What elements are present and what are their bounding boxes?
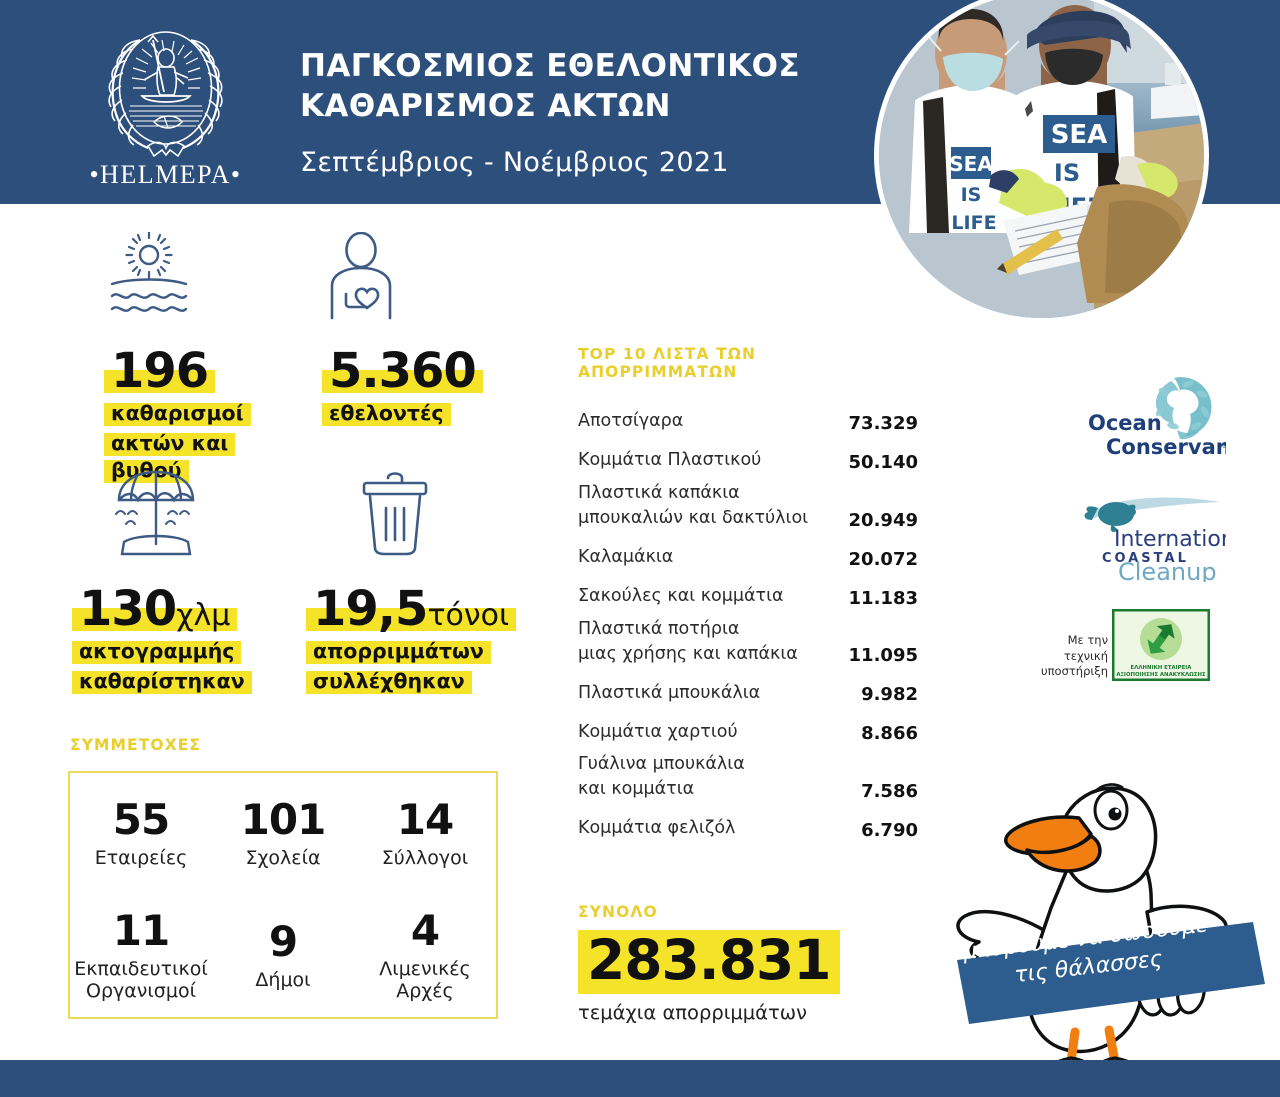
total-section: ΣΥΝΟΛΟ 283.831 τεμάχια απορριμμάτων — [578, 903, 918, 1024]
waste-item-name: Γυάλινα μπουκάλιακαι κομμάτια — [578, 752, 836, 802]
icc-line-1: International — [1114, 527, 1226, 552]
table-row: Κομμάτια χαρτιού 8.866 — [578, 713, 918, 744]
stat-unit: χλμ — [176, 598, 230, 633]
svg-text:LIFE: LIFE — [951, 212, 996, 234]
participation-item: 14 Σύλλογοι — [354, 773, 496, 895]
svg-text:SEA: SEA — [1051, 120, 1108, 150]
participation-item: 11 ΕκπαιδευτικοίΟργανισμοί — [70, 895, 212, 1017]
waste-item-value: 6.790 — [836, 820, 918, 841]
helmepa-logo: •HELMEPA• — [78, 22, 253, 197]
ocean-conservancy-line-2: Conservancy — [1106, 435, 1226, 459]
stat-card-volunteers: 5.360 εθελοντές — [322, 232, 522, 427]
table-row: Αποτσίγαρα 73.329 — [578, 403, 918, 434]
svg-text:IS: IS — [961, 184, 982, 206]
waste-item-value: 50.140 — [836, 452, 918, 473]
waste-item-name: Σακούλες και κομμάτια — [578, 584, 836, 609]
footer-bar — [0, 1060, 1280, 1097]
stat-card-cleanups: 196 καθαρισμοί ακτών και βυθού — [104, 232, 304, 485]
recycling-line-2: ΑΞΙΟΠΟΙΗΣΗΣ ΑΝΑΚΥΚΛΩΣΗΣ — [1116, 672, 1206, 678]
recycling-line-1: ΕΛΛΗΝΙΚΗ ΕΤΑΙΡΕΙΑ — [1131, 665, 1193, 671]
table-row: Κομμάτια Πλαστικού 50.140 — [578, 442, 918, 473]
participation-number: 55 — [113, 799, 169, 841]
top10-title: TOP 10 ΛΙΣΤΑ ΤΩΝ ΑΠΟΡΡΙΜΜΑΤΩΝ — [578, 345, 918, 381]
waste-item-name: Καλαμάκια — [578, 545, 836, 570]
volunteer-person-heart-icon — [322, 232, 522, 324]
table-row: Γυάλινα μπουκάλιακαι κομμάτια 7.586 — [578, 752, 918, 802]
ocean-conservancy-logo: Ocean Conservancy ® — [1078, 372, 1226, 460]
participation-item: 101 Σχολεία — [212, 773, 354, 895]
participation-label: Σχολεία — [245, 847, 320, 869]
waste-item-name: Πλαστικά ποτήριαμιας χρήσης και καπάκια — [578, 617, 836, 667]
waste-item-value: 11.095 — [836, 645, 918, 666]
participation-label: Εταιρείες — [95, 847, 188, 869]
waste-item-value: 20.949 — [836, 510, 918, 531]
stat-label-line-2: καθαρίστηκαν — [79, 669, 245, 693]
stat-number: 130 — [79, 581, 176, 637]
international-coastal-cleanup-logo: International COASTAL Cleanup — [1078, 490, 1226, 582]
stat-number: 196 — [111, 343, 208, 399]
stat-label-line-1: καθαρισμοί — [111, 401, 244, 425]
participation-item: 4 ΛιμενικέςΑρχές — [354, 895, 496, 1017]
technical-support-note: Με την τεχνική υποστήριξη — [1022, 633, 1108, 680]
infographic-page: •HELMEPA• ΠΑΓΚΟΣΜΙΟΣ ΕΘΕΛΟΝΤΙΚΟΣ ΚΑΘΑΡΙΣ… — [0, 0, 1280, 1097]
participation-box: 55 Εταιρείες 101 Σχολεία 14 Σύλλογοι 11 … — [68, 771, 498, 1019]
table-row: Πλαστικά μπουκάλια 9.982 — [578, 674, 918, 705]
page-title-line-1: ΠΑΓΚΟΣΜΙΟΣ ΕΘΕΛΟΝΤΙΚΟΣ — [300, 46, 840, 86]
waste-item-name: Αποτσίγαρα — [578, 409, 836, 434]
waste-item-name: Κομμάτια Πλαστικού — [578, 448, 836, 473]
waste-item-name: Πλαστικά μπουκάλια — [578, 681, 836, 706]
stat-label-line-1: απορριμμάτων — [313, 639, 484, 663]
participation-number: 101 — [241, 799, 326, 841]
stat-number: 5.360 — [329, 343, 476, 399]
table-row: Καλαμάκια 20.072 — [578, 539, 918, 570]
technical-support-line-2: υποστήριξη — [1041, 664, 1108, 678]
beach-umbrella-icon — [106, 466, 206, 562]
top10-list-section: TOP 10 ΛΙΣΤΑ ΤΩΝ ΑΠΟΡΡΙΜΜΑΤΩΝ Αποτσίγαρα… — [578, 345, 918, 849]
table-row: Πλαστικά ποτήριαμιας χρήσης και καπάκια … — [578, 617, 918, 667]
waste-item-name: Κομμάτια φελιζόλ — [578, 816, 836, 841]
stat-number: 19,5 — [313, 581, 427, 637]
svg-text:®: ® — [1221, 441, 1226, 450]
total-number: 283.831 — [578, 930, 840, 994]
stat-card-waste: 19,5τόνοι απορριμμάτων συλλέχθηκαν — [306, 466, 526, 695]
participation-number: 4 — [411, 910, 439, 952]
participation-label: Δήμοι — [255, 969, 310, 991]
participation-label: ΕκπαιδευτικοίΟργανισμοί — [74, 958, 208, 1003]
waste-item-value: 20.072 — [836, 549, 918, 570]
waste-item-name: Πλαστικά καπάκιαμπουκαλιών και δακτύλιοι — [578, 481, 836, 531]
icc-line-3: Cleanup — [1118, 558, 1217, 582]
participation-item: 55 Εταιρείες — [70, 773, 212, 895]
stat-unit: τόνοι — [427, 598, 509, 633]
table-row: Κομμάτια φελιζόλ 6.790 — [578, 810, 918, 841]
helmepa-logo-text: •HELMEPA• — [78, 160, 253, 190]
table-row: Σακούλες και κομμάτια 11.183 — [578, 578, 918, 609]
waste-item-name: Κομμάτια χαρτιού — [578, 720, 836, 745]
page-subtitle: Σεπτέμβριος - Νοέμβριος 2021 — [300, 147, 840, 178]
participation-item: 9 Δήμοι — [212, 895, 354, 1017]
hellenic-recovery-recycling-logo: ΕΛΛΗΝΙΚΗ ΕΤΑΙΡΕΙΑ ΑΞΙΟΠΟΙΗΣΗΣ ΑΝΑΚΥΚΛΩΣΗ… — [1112, 609, 1210, 681]
stat-label-line-2: συλλέχθηκαν — [313, 669, 465, 693]
total-label: τεμάχια απορριμμάτων — [578, 1001, 918, 1024]
pelican-mascot — [935, 762, 1280, 1082]
participation-number: 9 — [269, 921, 297, 963]
technical-support-line-1: Με την τεχνική — [1064, 633, 1108, 663]
header-banner: •HELMEPA• ΠΑΓΚΟΣΜΙΟΣ ΕΘΕΛΟΝΤΙΚΟΣ ΚΑΘΑΡΙΣ… — [0, 0, 1280, 204]
participation-section-title: ΣΥΜΜΕΤΟΧΕΣ — [70, 736, 201, 754]
stat-label-line-1: εθελοντές — [329, 401, 444, 425]
volunteers-photo: SEA IS LIFE SEA IS — [874, 0, 1209, 323]
stat-label-line-1: ακτογραμμής — [79, 639, 234, 663]
participation-label: Σύλλογοι — [382, 847, 468, 869]
page-title-line-2: ΚΑΘΑΡΙΣΜΟΣ ΑΚΤΩΝ — [300, 86, 840, 126]
table-row: Πλαστικά καπάκιαμπουκαλιών και δακτύλιοι… — [578, 481, 918, 531]
waste-item-value: 73.329 — [836, 413, 918, 434]
participation-number: 14 — [397, 799, 453, 841]
sun-over-sea-icon — [104, 232, 304, 324]
participation-number: 11 — [113, 910, 169, 952]
waste-item-value: 11.183 — [836, 588, 918, 609]
trash-bin-icon — [354, 466, 436, 562]
svg-text:IS: IS — [1054, 159, 1080, 187]
waste-item-value: 7.586 — [836, 781, 918, 802]
header-title-block: ΠΑΓΚΟΣΜΙΟΣ ΕΘΕΛΟΝΤΙΚΟΣ ΚΑΘΑΡΙΣΜΟΣ ΑΚΤΩΝ … — [300, 46, 840, 178]
waste-item-value: 8.866 — [836, 723, 918, 744]
stat-card-coastline: 130χλμ ακτογραμμής καθαρίστηκαν — [72, 466, 292, 695]
participation-label: ΛιμενικέςΑρχές — [379, 958, 470, 1003]
waste-item-value: 9.982 — [836, 684, 918, 705]
ocean-conservancy-line-1: Ocean — [1088, 411, 1162, 435]
total-title: ΣΥΝΟΛΟ — [578, 903, 918, 921]
svg-text:SEA: SEA — [949, 152, 993, 176]
